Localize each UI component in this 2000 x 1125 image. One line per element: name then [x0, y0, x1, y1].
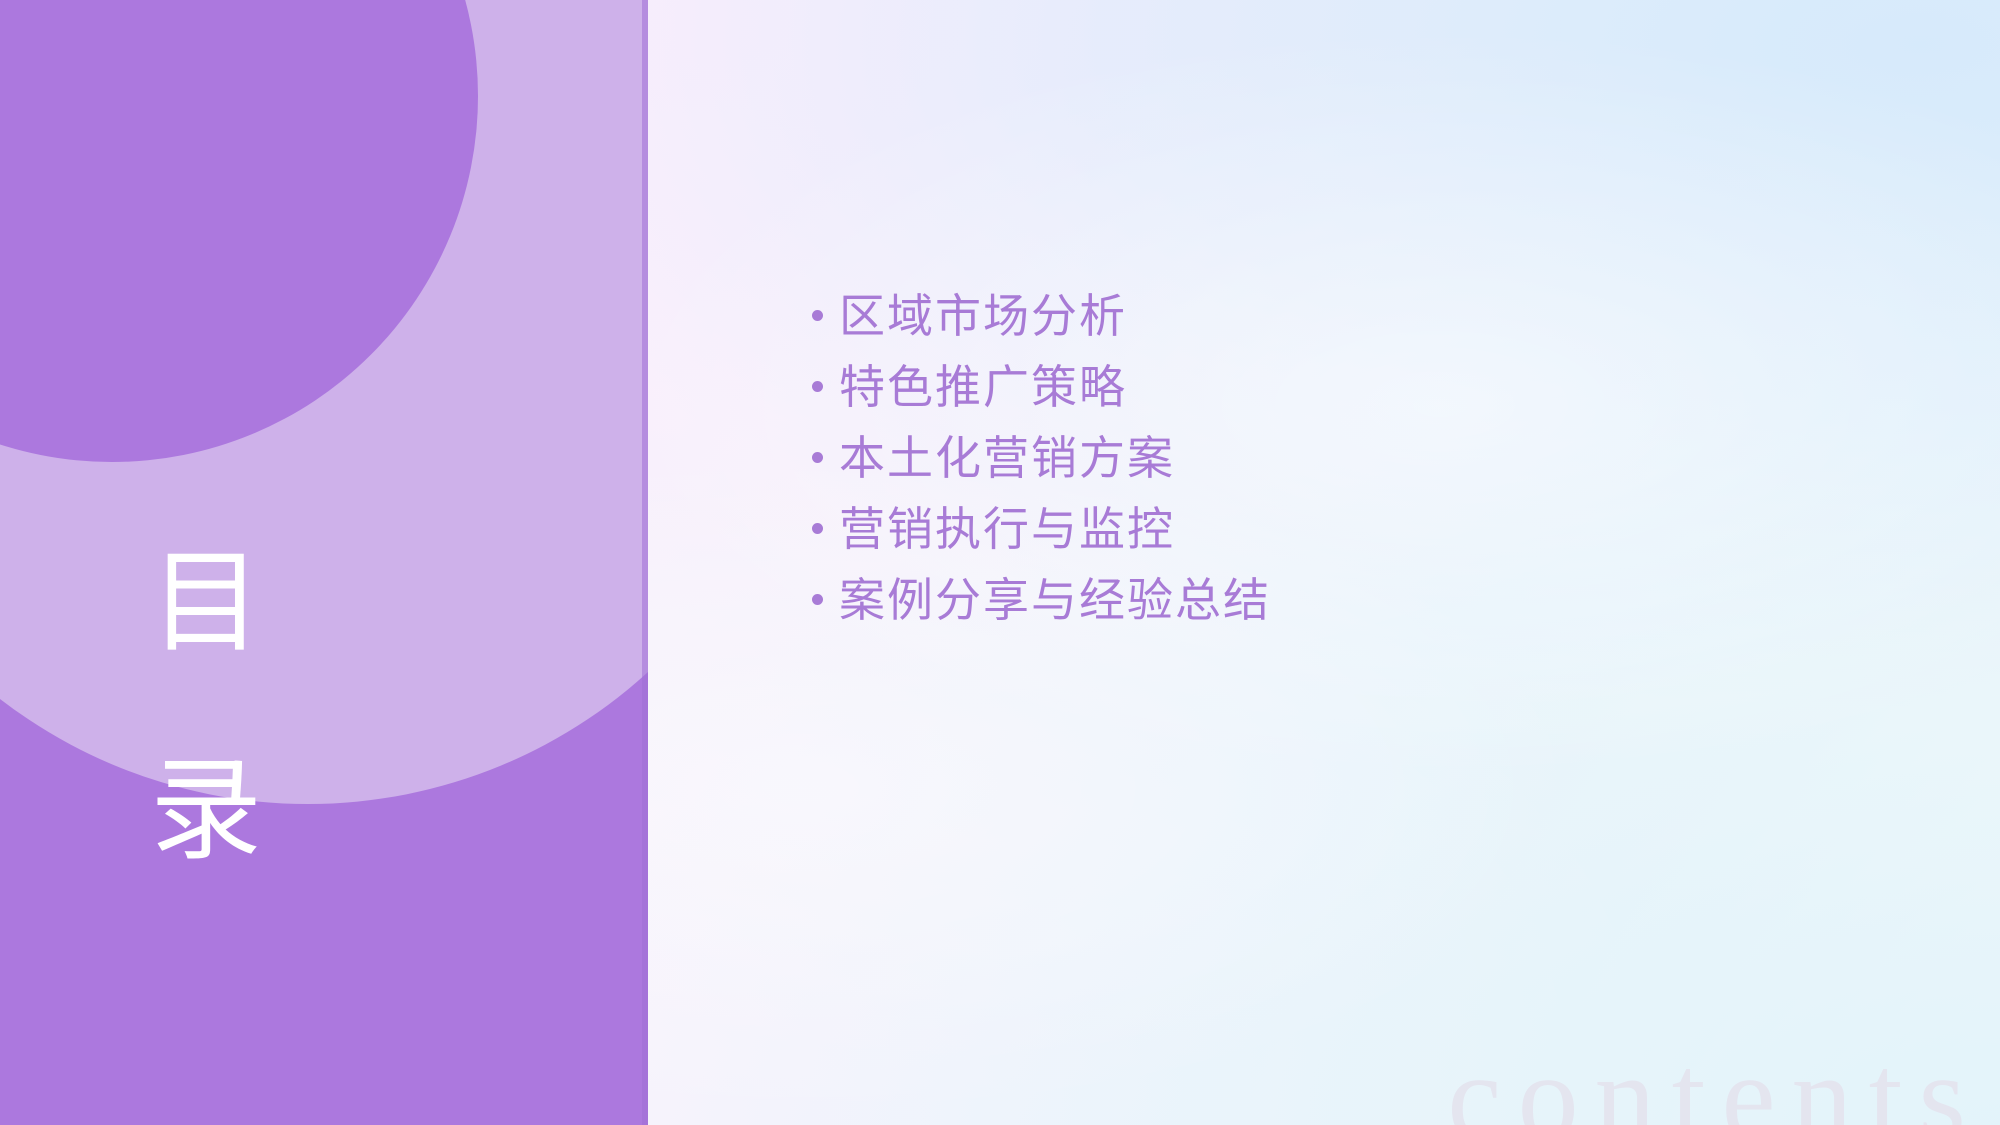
panel-right-edge-accent — [642, 0, 648, 1125]
list-item[interactable]: 本土化营销方案 — [812, 420, 1712, 490]
bullet-dot-icon — [812, 452, 823, 463]
left-purple-panel: 目 录 — [0, 0, 648, 1125]
agenda-item-label: 特色推广策略 — [839, 351, 1127, 417]
bullet-dot-icon — [812, 523, 823, 534]
agenda-list: 区域市场分析 特色推广策略 本土化营销方案 营销执行与监控 案例分享与经验总结 — [812, 278, 1712, 633]
agenda-item-label: 案例分享与经验总结 — [839, 564, 1271, 630]
list-item[interactable]: 区域市场分析 — [812, 278, 1712, 348]
bullet-dot-icon — [812, 381, 823, 392]
agenda-item-label: 营销执行与监控 — [839, 493, 1175, 559]
agenda-item-label: 区域市场分析 — [839, 280, 1127, 346]
slide-canvas: contents 目 录 区域市场分析 特色推广策略 本土化营销方案 营销执行与… — [0, 0, 2000, 1125]
list-item[interactable]: 特色推广策略 — [812, 349, 1712, 419]
toc-title-char-2: 录 — [0, 708, 412, 916]
agenda-item-label: 本土化营销方案 — [839, 422, 1175, 488]
bullet-dot-icon — [812, 594, 823, 605]
decorative-ring-hole — [0, 0, 478, 462]
contents-watermark: contents — [1447, 1037, 1982, 1125]
bullet-dot-icon — [812, 310, 823, 321]
toc-vertical-title: 目 录 — [0, 500, 412, 917]
list-item[interactable]: 案例分享与经验总结 — [812, 562, 1712, 632]
toc-title-char-1: 目 — [0, 500, 412, 708]
list-item[interactable]: 营销执行与监控 — [812, 491, 1712, 561]
